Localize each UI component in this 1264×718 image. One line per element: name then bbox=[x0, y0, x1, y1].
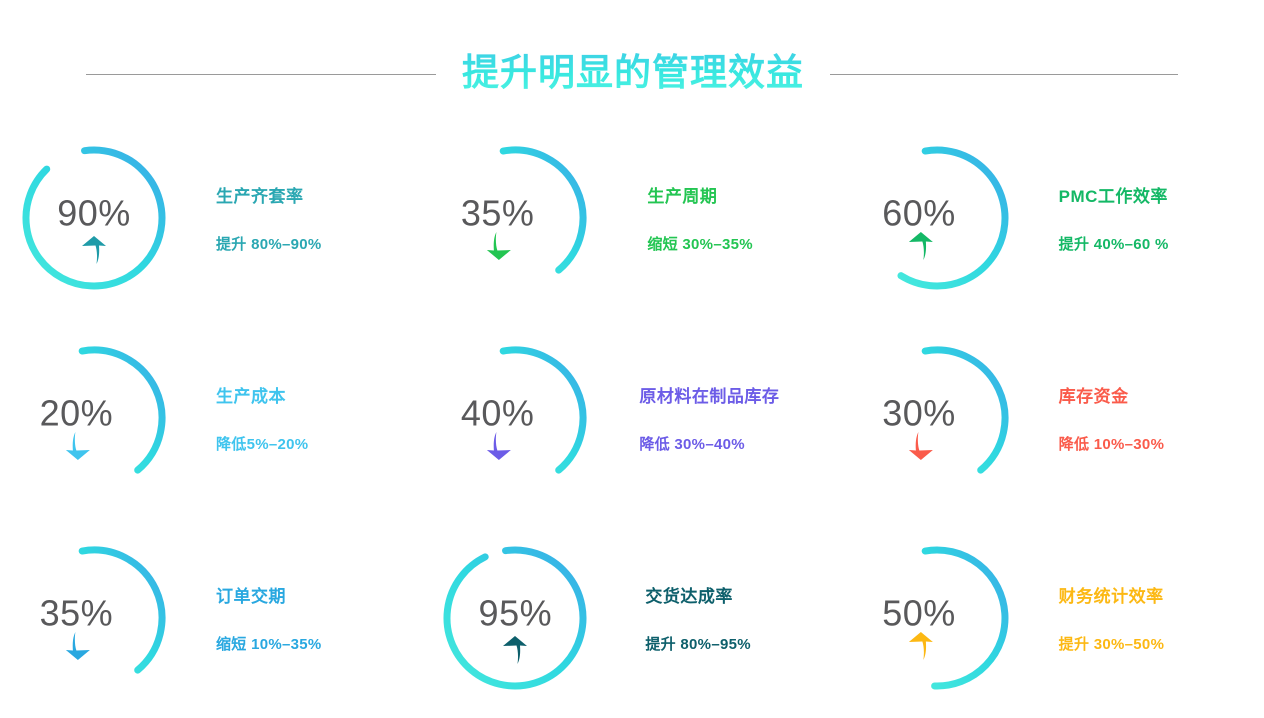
gauge-ring: 95% bbox=[435, 538, 595, 698]
metric-card: 90%生产齐套率提升 80%–90% bbox=[0, 118, 421, 318]
gauge-value: 35% bbox=[40, 596, 114, 632]
gauge-ring: 30% bbox=[857, 338, 1017, 498]
metric-subtitle: 提升 40%–60 % bbox=[1059, 233, 1169, 254]
metric-labels: 交货达成率提升 80%–95% bbox=[645, 582, 751, 654]
metric-labels: 财务统计效率提升 30%–50% bbox=[1059, 582, 1165, 654]
metric-title: 订单交期 bbox=[216, 582, 322, 607]
metric-subtitle: 提升 30%–50% bbox=[1059, 633, 1165, 654]
metric-title: 生产成本 bbox=[216, 382, 308, 407]
metric-labels: PMC工作效率提升 40%–60 % bbox=[1059, 182, 1169, 254]
metric-labels: 生产周期缩短 30%–35% bbox=[647, 182, 753, 254]
arrow-down-icon bbox=[486, 430, 512, 462]
gauge-ring: 35% bbox=[14, 538, 174, 698]
metric-subtitle: 缩短 30%–35% bbox=[647, 233, 753, 254]
metric-card: 60%PMC工作效率提升 40%–60 % bbox=[843, 118, 1264, 318]
metric-title: 库存资金 bbox=[1059, 382, 1165, 407]
metric-title: 财务统计效率 bbox=[1059, 582, 1165, 607]
metric-card: 30%库存资金降低 10%–30% bbox=[843, 318, 1264, 518]
arrow-down-icon bbox=[486, 230, 512, 262]
metric-labels: 生产成本降低5%–20% bbox=[216, 382, 308, 454]
metric-title: 原材料在制品库存 bbox=[639, 382, 779, 407]
header-rule-right bbox=[830, 74, 1178, 75]
metric-grid: 90%生产齐套率提升 80%–90%35%生产周期缩短 30%–35%60%PM… bbox=[0, 118, 1264, 718]
gauge-ring: 20% bbox=[14, 338, 174, 498]
metric-labels: 库存资金降低 10%–30% bbox=[1059, 382, 1165, 454]
metric-subtitle: 提升 80%–90% bbox=[216, 233, 322, 254]
metric-card: 20%生产成本降低5%–20% bbox=[0, 318, 421, 518]
metric-subtitle: 缩短 10%–35% bbox=[216, 633, 322, 654]
gauge-ring: 35% bbox=[435, 138, 595, 298]
arrow-up-icon bbox=[81, 234, 107, 266]
page-header: 提升明显的管理效益 bbox=[0, 44, 1264, 104]
gauge-value: 50% bbox=[882, 596, 956, 632]
metric-title: 生产齐套率 bbox=[216, 182, 322, 207]
gauge-value: 60% bbox=[882, 196, 956, 232]
arrow-down-icon bbox=[65, 630, 91, 662]
gauge-ring: 90% bbox=[14, 138, 174, 298]
metric-labels: 订单交期缩短 10%–35% bbox=[216, 582, 322, 654]
gauge-ring: 50% bbox=[857, 538, 1017, 698]
arrow-up-icon bbox=[502, 634, 528, 666]
metric-card: 95%交货达成率提升 80%–95% bbox=[421, 518, 842, 718]
gauge-value: 35% bbox=[461, 196, 535, 232]
gauge-value: 90% bbox=[57, 196, 131, 232]
metric-card: 50%财务统计效率提升 30%–50% bbox=[843, 518, 1264, 718]
arrow-down-icon bbox=[65, 430, 91, 462]
metric-subtitle: 降低5%–20% bbox=[216, 433, 308, 454]
gauge-ring: 60% bbox=[857, 138, 1017, 298]
metric-subtitle: 降低 10%–30% bbox=[1059, 433, 1165, 454]
metric-subtitle: 提升 80%–95% bbox=[645, 633, 751, 654]
gauge-ring: 40% bbox=[435, 338, 595, 498]
gauge-value: 40% bbox=[461, 396, 535, 432]
metric-labels: 生产齐套率提升 80%–90% bbox=[216, 182, 322, 254]
gauge-value: 95% bbox=[479, 596, 553, 632]
arrow-up-icon bbox=[908, 630, 934, 662]
gauge-value: 30% bbox=[882, 396, 956, 432]
metric-title: PMC工作效率 bbox=[1059, 182, 1169, 207]
metric-title: 交货达成率 bbox=[645, 582, 751, 607]
metric-card: 40%原材料在制品库存降低 30%–40% bbox=[421, 318, 842, 518]
metric-card: 35%生产周期缩短 30%–35% bbox=[421, 118, 842, 318]
metric-card: 35%订单交期缩短 10%–35% bbox=[0, 518, 421, 718]
arrow-down-icon bbox=[908, 430, 934, 462]
metric-labels: 原材料在制品库存降低 30%–40% bbox=[639, 382, 779, 454]
gauge-value: 20% bbox=[40, 396, 114, 432]
page-title: 提升明显的管理效益 bbox=[462, 50, 804, 99]
metric-subtitle: 降低 30%–40% bbox=[639, 433, 779, 454]
arrow-up-icon bbox=[908, 230, 934, 262]
metric-title: 生产周期 bbox=[647, 182, 753, 207]
header-rule-left bbox=[86, 74, 436, 75]
